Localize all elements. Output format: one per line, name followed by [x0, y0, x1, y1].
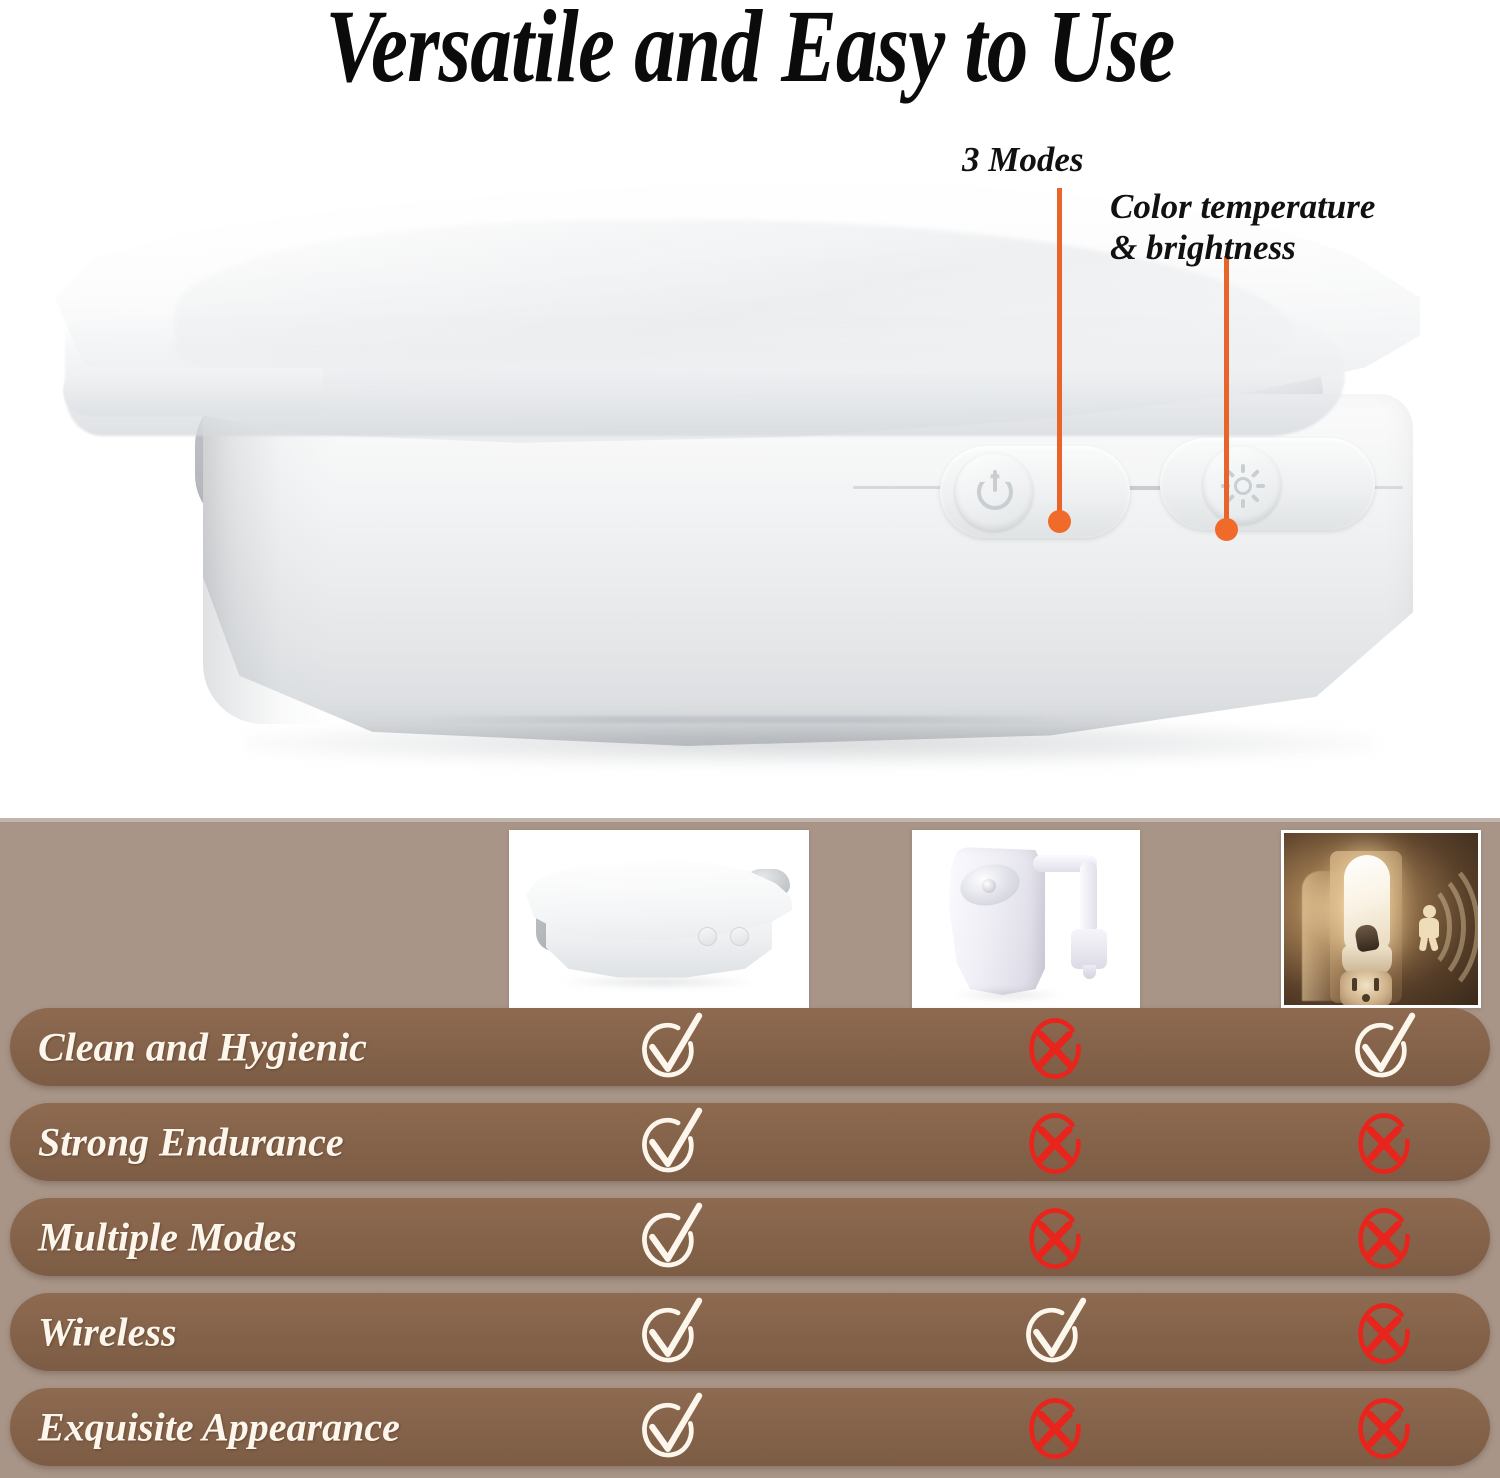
- bowl-light-arm-vertical: [1080, 861, 1097, 935]
- walking-person-icon: [1414, 905, 1444, 951]
- comparison-row: Strong Endurance: [10, 1103, 1490, 1181]
- comparison-cell-col-bowl-light: [1016, 1198, 1094, 1276]
- check-icon: [1016, 1293, 1094, 1371]
- panel-top-divider: [0, 818, 1500, 822]
- callout-leader-line-modes: [1057, 188, 1062, 518]
- check-icon: [632, 1103, 710, 1181]
- comparison-cell-col-plug-nightlight: [1345, 1388, 1423, 1466]
- check-icon: [632, 1198, 710, 1276]
- comparison-cell-col-this-product: [632, 1198, 710, 1276]
- comparison-panel: Clean and Hygienic Strong Endurance Mult…: [0, 818, 1500, 1478]
- column-header-this-product: [509, 830, 809, 1008]
- comparison-row-label: Strong Endurance: [38, 1119, 344, 1166]
- comparison-cell-col-bowl-light: [1016, 1103, 1094, 1181]
- cross-icon: [1345, 1388, 1423, 1466]
- product-body-shading: [203, 394, 333, 724]
- callout-dot-modes: [1048, 510, 1071, 533]
- comparison-cell-col-bowl-light: [1016, 1008, 1094, 1086]
- cross-icon: [1016, 1008, 1094, 1086]
- comparison-cell-col-this-product: [632, 1008, 710, 1086]
- comparison-cell-col-plug-nightlight: [1345, 1008, 1423, 1086]
- comparison-row: Clean and Hygienic: [10, 1008, 1490, 1086]
- comparison-cell-col-this-product: [632, 1103, 710, 1181]
- comparison-row-label: Clean and Hygienic: [38, 1024, 367, 1071]
- comparison-cell-col-plug-nightlight: [1345, 1293, 1423, 1371]
- brightness-icon: [1223, 466, 1263, 506]
- comparison-row-label: Multiple Modes: [38, 1214, 297, 1261]
- product-drop-shadow: [245, 720, 1375, 766]
- callout-label-modes: 3 Modes: [962, 140, 1084, 180]
- column-header-bowl-light: [912, 830, 1140, 1008]
- comparison-row: Multiple Modes: [10, 1198, 1490, 1276]
- callout-label-color-temperature: Color temperature & brightness: [1110, 186, 1375, 269]
- comparison-cell-col-this-product: [632, 1293, 710, 1371]
- comparison-row-label: Wireless: [38, 1309, 177, 1356]
- comparison-row: Exquisite Appearance: [10, 1388, 1490, 1466]
- page-title: Versatile and Easy to Use: [150, 0, 1350, 102]
- comparison-cell-col-this-product: [632, 1388, 710, 1466]
- comparison-rows: Clean and Hygienic Strong Endurance Mult…: [0, 1008, 1500, 1478]
- comparison-cell-col-bowl-light: [1016, 1293, 1094, 1371]
- thumb-brightness-button-icon: [730, 927, 749, 946]
- product-seam-left: [853, 486, 945, 489]
- bowl-light-led-icon: [982, 879, 996, 893]
- cross-icon: [1345, 1198, 1423, 1276]
- cross-icon: [1016, 1198, 1094, 1276]
- comparison-cell-col-bowl-light: [1016, 1388, 1094, 1466]
- cross-icon: [1345, 1103, 1423, 1181]
- check-icon: [632, 1008, 710, 1086]
- power-icon: [977, 474, 1013, 510]
- comparison-column-headers: [0, 830, 1500, 1008]
- check-icon: [1345, 1008, 1423, 1086]
- thumb-power-button-icon: [698, 927, 717, 946]
- hero-section: Versatile and Easy to Use: [0, 0, 1500, 818]
- cross-icon: [1345, 1293, 1423, 1371]
- wall-outlet-icon: [1340, 971, 1392, 1007]
- product-lid-lip: [63, 368, 323, 416]
- comparison-cell-col-plug-nightlight: [1345, 1198, 1423, 1276]
- comparison-row-label: Exquisite Appearance: [38, 1404, 400, 1451]
- bowl-light-clamp: [1071, 929, 1107, 969]
- bowl-light-clamp-tip: [1083, 965, 1096, 979]
- check-icon: [632, 1293, 710, 1371]
- comparison-row: Wireless: [10, 1293, 1490, 1371]
- callout-dot-color-temp: [1215, 518, 1238, 541]
- cross-icon: [1016, 1103, 1094, 1181]
- bowl-light-shadow: [953, 989, 1063, 1001]
- callout-leader-line-color-temp: [1224, 256, 1229, 528]
- cross-icon: [1016, 1388, 1094, 1466]
- comparison-cell-col-plug-nightlight: [1345, 1103, 1423, 1181]
- column-header-plug-night-light: [1281, 830, 1481, 1008]
- check-icon: [632, 1388, 710, 1466]
